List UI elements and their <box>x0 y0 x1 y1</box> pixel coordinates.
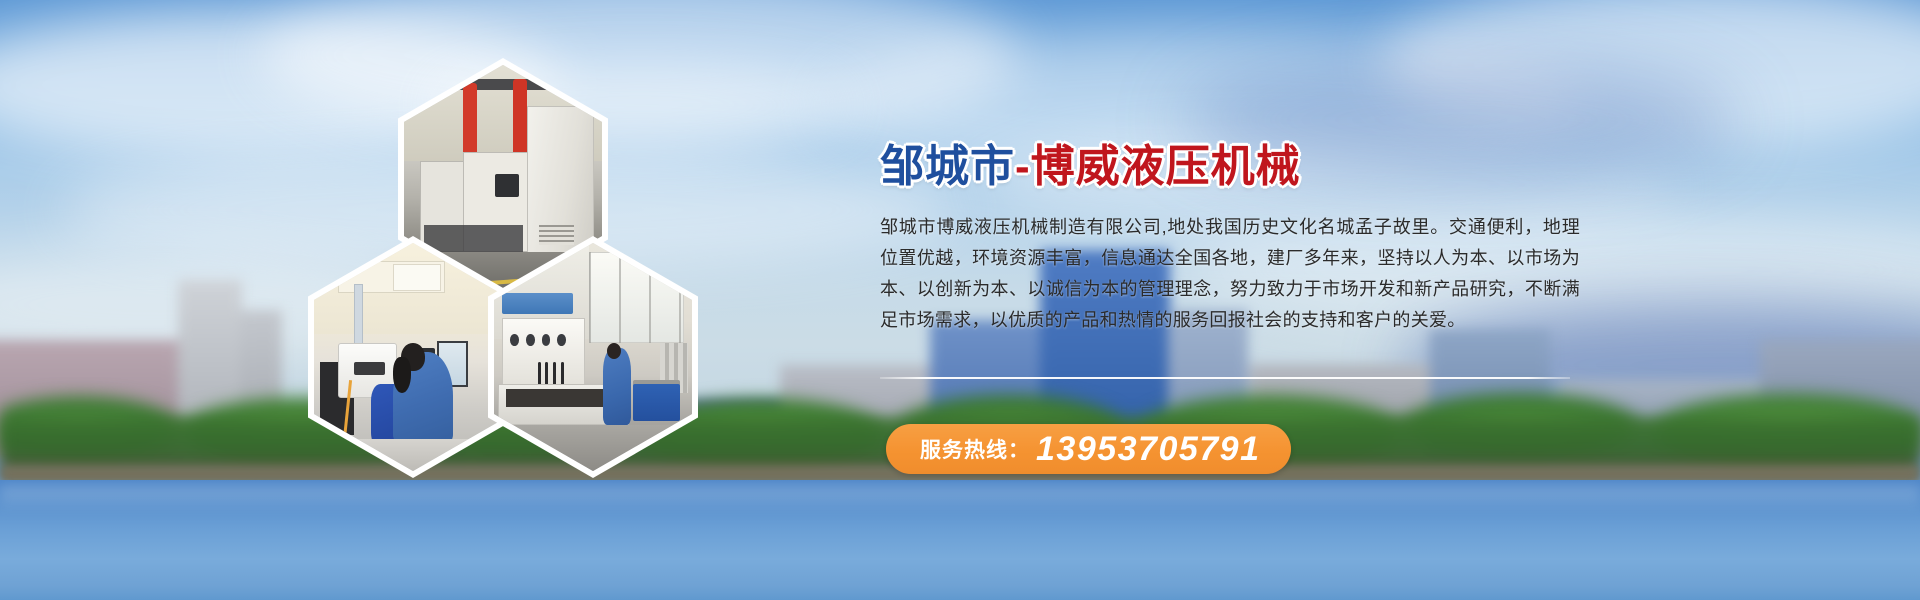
photo-test-bench <box>494 243 692 471</box>
company-title: 邹城市-博威液压机械 <box>880 139 1301 195</box>
worker-head <box>607 343 621 359</box>
photo-lab-operator <box>314 243 512 471</box>
hotline-label: 服务热线： <box>920 434 1030 464</box>
test-room-floor <box>494 425 692 471</box>
service-hotline-pill[interactable]: 服务热线： 13953705791 <box>886 424 1291 474</box>
worker-body <box>603 348 631 426</box>
hydraulic-test-cabinet <box>502 318 585 386</box>
company-title-name: -博威液压机械 <box>1015 142 1301 191</box>
test-bench-trough <box>506 389 617 407</box>
company-description: 邹城市博威液压机械制造有限公司,地处我国历史文化名城孟子故里。交通便利，地理位置… <box>880 212 1580 336</box>
pressure-gauge <box>510 334 519 345</box>
pressure-gauge <box>557 334 566 345</box>
wall-banner <box>502 293 573 314</box>
wall-board <box>393 264 441 291</box>
window-frame <box>589 252 684 343</box>
tool-cart <box>633 384 681 420</box>
photo-frame <box>314 243 512 471</box>
ceiling-beam <box>404 79 602 90</box>
pressure-gauge <box>526 334 535 345</box>
photo-frame <box>494 243 692 471</box>
machine-vent <box>539 225 575 246</box>
lab-floor <box>314 439 512 471</box>
banner-content: 邹城市-博威液压机械 邹城市博威液压机械制造有限公司,地处我国历史文化名城孟子故… <box>880 0 1640 600</box>
control-panel <box>495 174 519 197</box>
hotline-number: 13953705791 <box>1036 430 1261 469</box>
company-title-city: 邹城市 <box>880 142 1015 191</box>
company-profile-banner: 邹城市-博威液压机械 邹城市博威液压机械制造有限公司,地处我国历史文化名城孟子故… <box>0 0 1920 600</box>
instrument-panel <box>354 362 386 376</box>
content-divider <box>880 377 1570 379</box>
pressure-gauge <box>542 334 551 345</box>
hexagon-photo-collage <box>308 58 698 478</box>
